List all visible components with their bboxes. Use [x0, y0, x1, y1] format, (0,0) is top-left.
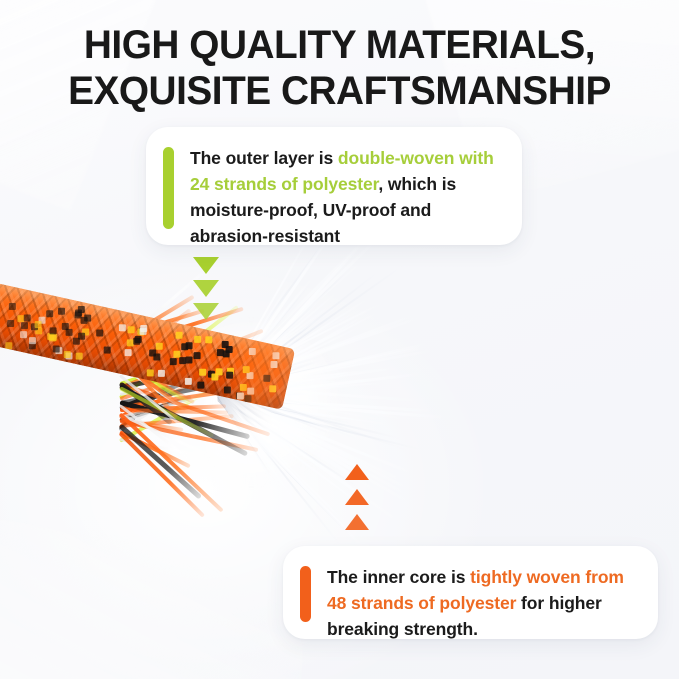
callout-outer-layer: The outer layer is double-woven with 24 …: [146, 127, 522, 245]
callout-outer-text-part-1: The outer layer is: [190, 148, 338, 168]
page-title-line-1: HIGH QUALITY MATERIALS,: [10, 22, 669, 68]
orange-arrow-2: [345, 489, 369, 505]
orange-arrow-1: [345, 464, 369, 480]
green-arrow-2: [193, 280, 219, 297]
callout-inner-text: The inner core is tightly woven from 48 …: [327, 564, 638, 642]
callout-outer-accent-bar: [163, 147, 174, 229]
orange-arrow-3: [345, 514, 369, 530]
green-arrow-3: [193, 303, 219, 320]
page-title-line-2: EXQUISITE CRAFTSMANSHIP: [10, 68, 669, 114]
product-photo: [0, 255, 470, 555]
callout-inner-text-part-1: The inner core is: [327, 567, 470, 587]
callout-inner-core: The inner core is tightly woven from 48 …: [283, 546, 658, 639]
callout-outer-text: The outer layer is double-woven with 24 …: [190, 145, 502, 249]
page-title: HIGH QUALITY MATERIALS, EXQUISITE CRAFTS…: [10, 22, 669, 114]
infographic-canvas: HIGH QUALITY MATERIALS, EXQUISITE CRAFTS…: [0, 0, 679, 679]
callout-inner-accent-bar: [300, 566, 311, 622]
green-arrow-1: [193, 257, 219, 274]
